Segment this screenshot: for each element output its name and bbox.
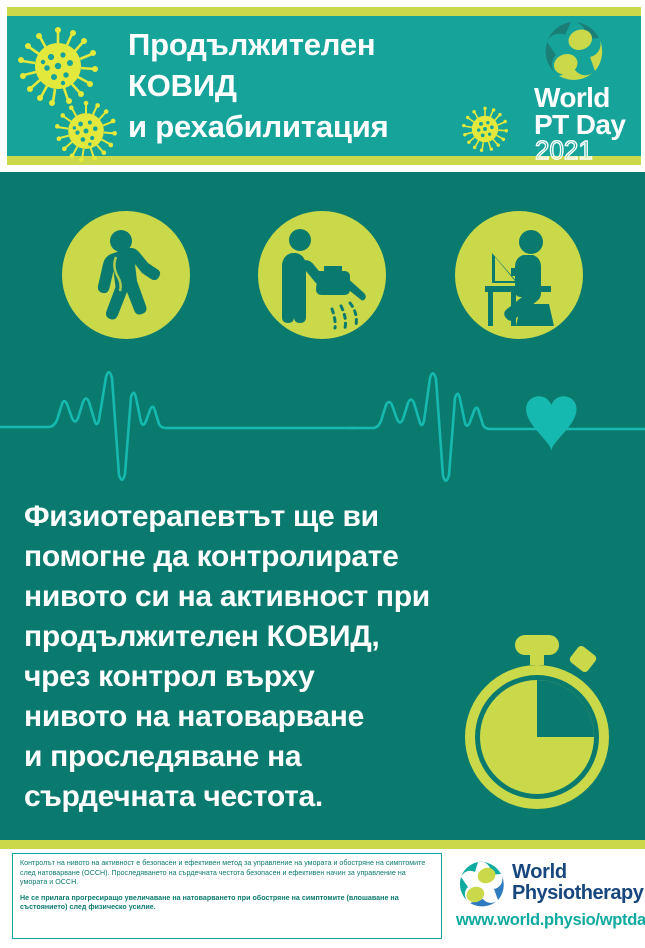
footer-lime-rule xyxy=(0,840,645,849)
title-line-3: и рехабилитация xyxy=(128,106,458,147)
main-line-8: сърдечната честота. xyxy=(24,777,494,817)
poster-footer: Контролът на нивото на активност е безоп… xyxy=(0,849,645,948)
footer-note-box: Контролът на нивото на активност е безоп… xyxy=(12,853,442,939)
virus-icon xyxy=(55,100,117,162)
poster-header: Продължителен КОВИД и рехабилитация Worl… xyxy=(0,0,645,172)
title-line-1: Продължителен xyxy=(128,24,458,65)
main-line-4: продължителен КОВИД, xyxy=(24,617,494,657)
world-pt-day-logo: World PT Day 2021 xyxy=(525,22,630,162)
walking-person-icon xyxy=(62,211,190,339)
desk-work-laptop-person-icon xyxy=(455,211,583,339)
watering-plants-person-icon xyxy=(258,211,386,339)
main-line-5: чрез контрол върху xyxy=(24,657,494,697)
heart-icon xyxy=(526,396,576,451)
header-left-white-margin xyxy=(0,0,7,172)
world-physiotherapy-logo[interactable]: World Physiotherapy www.world.physio/wpt… xyxy=(456,859,638,937)
title-line-2: КОВИД xyxy=(128,65,458,106)
wp-logo-line-1: World xyxy=(512,862,567,882)
wp-logo-line-2: Physiotherapy xyxy=(512,883,643,903)
footer-paragraph-2: Не се прилага прогресиращо увеличаване н… xyxy=(20,894,434,913)
heartbeat-ecg-line xyxy=(0,370,645,490)
activity-icon-row xyxy=(0,195,645,360)
virus-icon xyxy=(462,106,508,152)
main-line-7: и проследяване на xyxy=(24,737,494,777)
stopwatch-icon xyxy=(447,627,632,817)
wptday-url-link[interactable]: www.world.physio/wptday xyxy=(456,911,645,929)
main-line-6: нивото на натоварване xyxy=(24,697,494,737)
main-line-1: Физиотерапевтът ще ви xyxy=(24,497,494,537)
header-right-white-margin xyxy=(641,0,645,172)
world-pt-day-pinwheel-icon xyxy=(537,22,609,86)
header-top-white-margin xyxy=(0,0,645,7)
main-line-3: нивото си на активност при xyxy=(24,577,494,617)
virus-icon xyxy=(18,26,98,106)
wptday-line-1: World xyxy=(534,84,610,112)
poster-title: Продължителен КОВИД и рехабилитация xyxy=(128,24,458,147)
world-physiotherapy-pinwheel-icon xyxy=(456,861,506,909)
main-line-2: помогне да контролирате xyxy=(24,537,494,577)
wptday-year: 2021 xyxy=(535,137,593,163)
header-bottom-white-margin xyxy=(0,165,645,172)
main-message: Физиотерапевтът ще ви помогне да контрол… xyxy=(24,497,494,817)
body-bottom-edge xyxy=(0,832,645,840)
poster-root: Продължителен КОВИД и рехабилитация Worl… xyxy=(0,0,645,948)
footer-paragraph-1: Контролът на нивото на активност е безоп… xyxy=(20,859,434,888)
header-lime-rule-top xyxy=(0,7,645,16)
